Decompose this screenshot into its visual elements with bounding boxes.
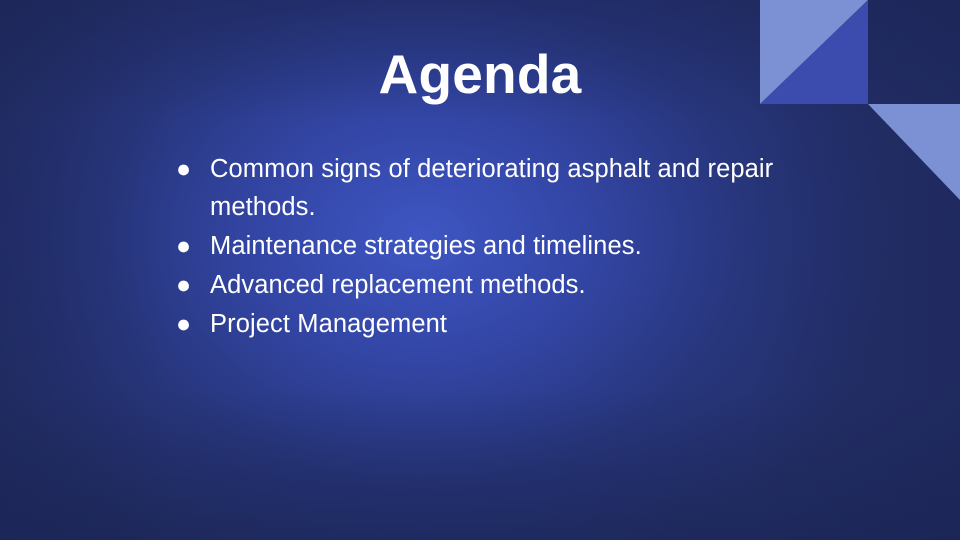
list-item-label: Common signs of deteriorating asphalt an… [210,150,790,226]
bullet-dot-icon: ● [170,266,210,304]
list-item-label: Project Management [210,305,790,343]
bullet-dot-icon: ● [170,305,210,343]
presentation-slide: Agenda ● Common signs of deteriorating a… [0,0,960,540]
bullet-dot-icon: ● [170,150,210,188]
agenda-bullet-list: ● Common signs of deteriorating asphalt … [170,150,790,344]
list-item: ● Advanced replacement methods. [170,266,790,304]
page-title: Agenda [0,46,960,104]
decoration-triangle-light-lower [868,104,960,200]
bullet-dot-icon: ● [170,227,210,265]
list-item: ● Common signs of deteriorating asphalt … [170,150,790,226]
list-item-label: Maintenance strategies and timelines. [210,227,790,265]
list-item: ● Project Management [170,305,790,343]
list-item-label: Advanced replacement methods. [210,266,790,304]
list-item: ● Maintenance strategies and timelines. [170,227,790,265]
